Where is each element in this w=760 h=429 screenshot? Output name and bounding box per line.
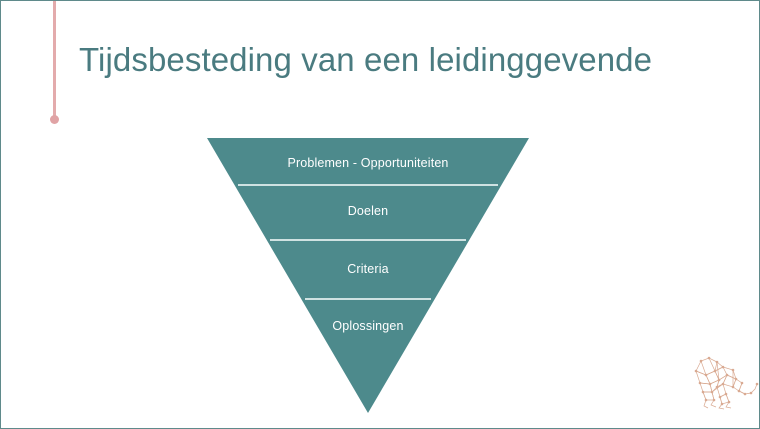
accent-dot-icon <box>50 115 59 124</box>
pyramid-body <box>207 138 529 413</box>
leopard-wireframe-svg <box>693 353 759 415</box>
accent-line <box>53 1 56 119</box>
inverted-pyramid-diagram: Problemen - Opportuniteiten Doelen Crite… <box>197 131 539 421</box>
pyramid-shape <box>197 131 539 421</box>
slide-canvas: Tijdsbesteding van een leidinggevende Pr… <box>0 0 760 429</box>
page-title: Tijdsbesteding van een leidinggevende <box>79 39 652 81</box>
leopard-wireframe-icon <box>693 353 759 415</box>
